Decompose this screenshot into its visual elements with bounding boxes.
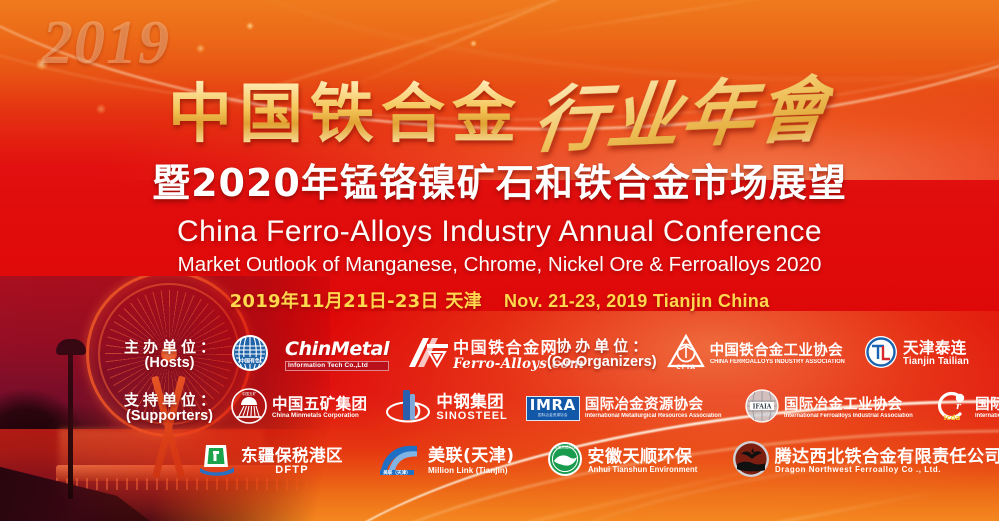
logo-cnmn[interactable]: 中国有色: [231, 334, 269, 377]
co-organizers-label-cn: 协办单位：: [547, 339, 657, 355]
sinosteel-cn: 中钢集团: [436, 394, 507, 411]
minmetals-en: China Minmetals Corporation: [272, 413, 364, 420]
million-link-text: 美联(天津) Million Link (Tianjin): [428, 448, 515, 474]
sinosteel-text: 中钢集团 SINOSTEEL: [436, 394, 507, 422]
logo-million-link[interactable]: 美联（天津） 美联(天津) Million Link (Tianjin): [377, 442, 515, 481]
imra-cn: 国际冶金资源协会: [585, 398, 727, 413]
main-title-gold-text: 中国铁合金: [168, 63, 523, 155]
logo-chinmetal[interactable]: ChinMetal Information Tech Co.,Ltd: [285, 340, 389, 371]
logo-cfia[interactable]: CFIA 中国铁合金工业协会 CHINA FERROALLOYS INDUSTR…: [667, 334, 850, 375]
svg-text:CFIA: CFIA: [676, 364, 696, 370]
spark-4: [196, 44, 205, 53]
minmetals-cn: 中国五矿集团: [272, 397, 367, 413]
svg-text:美联（天津）: 美联（天津）: [383, 469, 411, 476]
svg-text:IFAIA: IFAIA: [753, 403, 772, 410]
supporters-row-1: 支持单位： (Supporters) 中国五矿: [120, 388, 999, 429]
co-organizers-row: 协办单位： (Co-Organizers) CFIA 中国铁合金工业协会 CHI…: [547, 334, 972, 375]
sponsors-section: 主办单位： (Hosts) 中国有色: [0, 332, 999, 521]
logo-dftp[interactable]: 东疆保税港区 DFTP: [198, 441, 343, 482]
logo-anhui-tianshun[interactable]: 安徽天顺环保 安徽天顺环保 Anhui Tianshun Environment: [547, 441, 702, 482]
dftp-cn: 东疆保税港区: [241, 447, 343, 464]
million-link-en: Million Link (Tianjin): [428, 466, 511, 475]
icda-text: 国际铬发展协会 International Chrome Development…: [975, 398, 999, 419]
imra-strip: 国际冶金资源协会: [538, 414, 568, 418]
title-en-line2: Market Outlook of Manganese, Chrome, Nic…: [0, 253, 999, 277]
imra-box-icon: IMRA 国际冶金资源协会: [526, 396, 580, 421]
tailian-text: 天津泰连 Tianjin Tailian: [903, 341, 972, 367]
imra-en: International Metallurgical Resources As…: [585, 413, 721, 419]
ferroalloys-icon: [407, 336, 449, 375]
imra-acronym: IMRA: [530, 398, 576, 413]
spark-3: [470, 40, 477, 47]
cfia-triangle-icon: CFIA: [667, 334, 705, 375]
imra-text: 国际冶金资源协会 International Metallurgical Res…: [585, 398, 727, 419]
chinmetal-sub: Information Tech Co.,Ltd: [285, 361, 389, 371]
ifaia-cn: 国际冶金工业协会: [784, 398, 918, 413]
co-organizers-label: 协办单位： (Co-Organizers): [547, 339, 657, 370]
chinmetal-name: ChinMetal: [285, 340, 389, 359]
hosts-label-en: (Hosts): [120, 356, 219, 371]
tl-circle-icon: [864, 335, 898, 374]
main-title-calligraphy: 行业年會: [528, 50, 838, 166]
tailian-cn: 天津泰连: [903, 341, 972, 357]
globe-grid-icon: 中国有色: [231, 334, 269, 377]
spark-2: [246, 22, 254, 30]
date-en: Nov. 21-23, 2019 Tianjin China: [504, 291, 769, 311]
date-cn: 2019年11月21日-23日 天津: [230, 291, 482, 312]
dragon-en: Dragon Northwest Ferroalloy Co ., Ltd.: [775, 466, 993, 475]
conference-banner: 2019 中国铁合金行业年會 暨2020年锰铬镍矿石和铁合金市场展望 China…: [0, 0, 999, 521]
cfia-cn: 中国铁合金工业协会: [710, 344, 850, 359]
title-en-line1: China Ferro-Alloys Industry Annual Confe…: [0, 215, 999, 249]
logo-dragon-northwest[interactable]: 腾达西北铁合金有限责任公司 Dragon Northwest Ferroallo…: [732, 440, 999, 483]
cfia-text: 中国铁合金工业协会 CHINA FERROALLOYS INDUSTRY ASS…: [710, 344, 850, 365]
hosts-row: 主办单位： (Hosts) 中国有色: [120, 334, 584, 377]
hosts-label: 主办单位： (Hosts): [120, 340, 219, 371]
tianshun-text: 安徽天顺环保 Anhui Tianshun Environment: [588, 449, 702, 475]
ifaia-en: International Ferroalloys Industrial Ass…: [784, 413, 913, 419]
tianshun-icon: 安徽天顺环保: [547, 441, 583, 482]
dftp-icon: [198, 441, 236, 482]
icda-en: International Chrome Development Associa…: [975, 413, 999, 419]
svg-text:安徽天顺环保: 安徽天顺环保: [554, 445, 576, 450]
million-link-icon: 美联（天津）: [377, 442, 423, 481]
svg-text:中国有色: 中国有色: [240, 358, 260, 365]
supporters-label-en: (Supporters): [120, 409, 219, 424]
ifaia-globe-icon: IFAIA: [745, 389, 779, 428]
date-line: 2019年11月21日-23日 天津Nov. 21-23, 2019 Tianj…: [0, 287, 999, 313]
light-ray-3: [522, 0, 819, 37]
svg-text:中国五矿: 中国五矿: [242, 391, 257, 396]
icda-cn: 国际铬发展协会: [975, 398, 999, 413]
main-title-cn: 中国铁合金行业年會: [0, 56, 999, 161]
supporters-label-cn: 支持单位：: [120, 393, 219, 409]
logo-ifaia[interactable]: IFAIA 国际冶金工业协会 International Ferroalloys…: [745, 389, 918, 428]
hosts-label-cn: 主办单位：: [120, 340, 219, 356]
minmetals-seal-icon: 中国五矿: [231, 388, 267, 429]
cfia-en: CHINA FERROALLOYS INDUSTRY ASSOCIATION: [710, 359, 845, 365]
tianshun-en: Anhui Tianshun Environment: [588, 466, 697, 474]
dftp-en: DFTP: [241, 465, 343, 477]
svg-text:r: r: [956, 402, 962, 412]
logo-imra[interactable]: IMRA 国际冶金资源协会 国际冶金资源协会 International Met…: [526, 396, 727, 421]
minmetals-text: 中国五矿集团 China Minmetals Corporation: [272, 397, 367, 420]
dftp-text: 东疆保税港区 DFTP: [241, 447, 343, 477]
supporters-label: 支持单位： (Supporters): [120, 393, 219, 424]
ifaia-text: 国际冶金工业协会 International Ferroalloys Indus…: [784, 398, 918, 419]
supporters-row-2: 东疆保税港区 DFTP 美联（天津） 美联(天津) Million Link: [198, 440, 999, 483]
dragon-cn: 腾达西北铁合金有限责任公司: [775, 449, 999, 466]
tailian-en: Tianjin Tailian: [903, 357, 969, 368]
logo-sinosteel[interactable]: 中钢集团 SINOSTEEL: [385, 388, 507, 429]
co-organizers-label-en: (Co-Organizers): [547, 355, 657, 370]
dragon-icon: [732, 440, 770, 483]
tianshun-cn: 安徽天顺环保: [588, 449, 702, 466]
logo-tianjin-tailian[interactable]: 天津泰连 Tianjin Tailian: [864, 335, 972, 374]
subtitle-cn: 暨2020年锰铬镍矿石和铁合金市场展望: [0, 152, 999, 207]
dragon-text: 腾达西北铁合金有限责任公司 Dragon Northwest Ferroallo…: [775, 449, 999, 475]
million-link-cn: 美联(天津): [428, 448, 515, 465]
svg-text:Icda: Icda: [944, 414, 961, 422]
chinmetal-wordmark-icon: ChinMetal Information Tech Co.,Ltd: [285, 340, 389, 371]
sinosteel-en: SINOSTEEL: [436, 411, 507, 423]
sinosteel-icon: [385, 388, 431, 429]
icda-cr-icon: r Icda: [934, 389, 970, 428]
logo-icda[interactable]: r Icda 国际铬发展协会 International Chrome Deve…: [934, 389, 999, 428]
logo-minmetals[interactable]: 中国五矿 中国五矿集团 China Minmetals Corporation: [231, 388, 367, 429]
